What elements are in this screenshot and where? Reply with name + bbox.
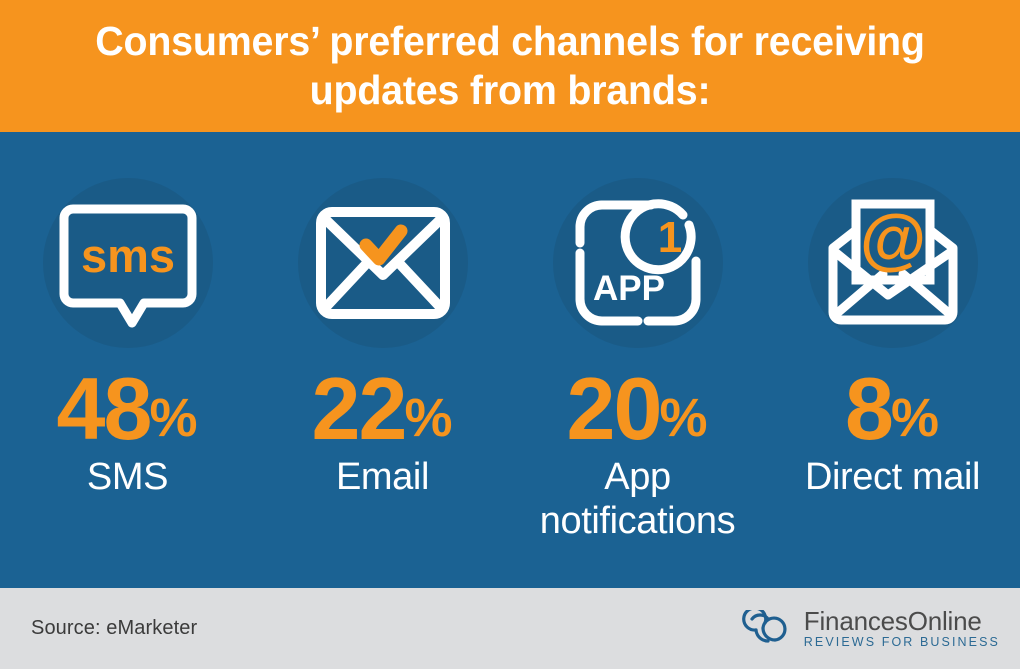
direct-mail-at-envelope-icon: @ — [828, 200, 958, 326]
header-banner: Consumers’ preferred channels for receiv… — [0, 0, 1020, 132]
percent-sign: % — [149, 391, 197, 445]
financesonline-logo[interactable]: FinancesOnline REVIEWS FOR BUSINESS — [732, 608, 1000, 650]
stat-column-direct-mail: @ 8 % Direct mail — [765, 132, 1020, 499]
stats-columns: sms 48 % SMS — [0, 132, 1020, 588]
email-icon-circle — [298, 178, 468, 348]
stat-label-direct-mail: Direct mail — [773, 455, 1013, 499]
stat-number: 22 — [312, 370, 406, 447]
infographic-canvas: Consumers’ preferred channels for receiv… — [0, 0, 1020, 669]
app-icon-circle: 1 APP — [553, 178, 723, 348]
logo-tagline: REVIEWS FOR BUSINESS — [804, 635, 1000, 650]
stat-label-app: App notifications — [518, 455, 758, 543]
percent-sign: % — [659, 391, 707, 445]
email-envelope-check-icon — [316, 207, 450, 319]
app-icon-label: APP — [593, 269, 665, 308]
sms-icon-label: sms — [80, 229, 174, 282]
stat-value-sms: 48 % — [57, 370, 199, 447]
stat-label-sms: SMS — [8, 455, 248, 499]
stat-number: 8 — [845, 370, 892, 447]
stat-column-sms: sms 48 % SMS — [0, 132, 255, 499]
app-notification-badge-icon: 1 APP — [574, 199, 702, 327]
app-badge-count: 1 — [657, 213, 681, 262]
stat-value-direct-mail: 8 % — [845, 370, 940, 447]
footer-bar: Source: eMarketer FinancesOnline REVIEWS… — [0, 588, 1020, 669]
at-symbol-icon: @ — [859, 201, 925, 277]
stats-panel: sms 48 % SMS — [0, 132, 1020, 588]
stat-value-app: 20 % — [567, 370, 709, 447]
percent-sign: % — [891, 391, 939, 445]
sms-speech-bubble-icon: sms — [62, 201, 194, 325]
stat-number: 20 — [567, 370, 661, 447]
direct-mail-icon-circle: @ — [808, 178, 978, 348]
logo-text-block: FinancesOnline REVIEWS FOR BUSINESS — [804, 608, 1000, 650]
percent-sign: % — [404, 391, 452, 445]
stat-number: 48 — [57, 370, 151, 447]
stat-label-email: Email — [263, 455, 503, 499]
stat-column-app: 1 APP 20 % App notifications — [510, 132, 765, 543]
sms-icon-circle: sms — [43, 178, 213, 348]
stat-column-email: 22 % Email — [255, 132, 510, 499]
page-title: Consumers’ preferred channels for receiv… — [78, 17, 942, 115]
source-attribution: Source: eMarketer — [31, 617, 197, 640]
stat-value-email: 22 % — [312, 370, 454, 447]
infinity-cloud-logo-icon — [732, 610, 794, 648]
logo-name: FinancesOnline — [804, 608, 982, 635]
